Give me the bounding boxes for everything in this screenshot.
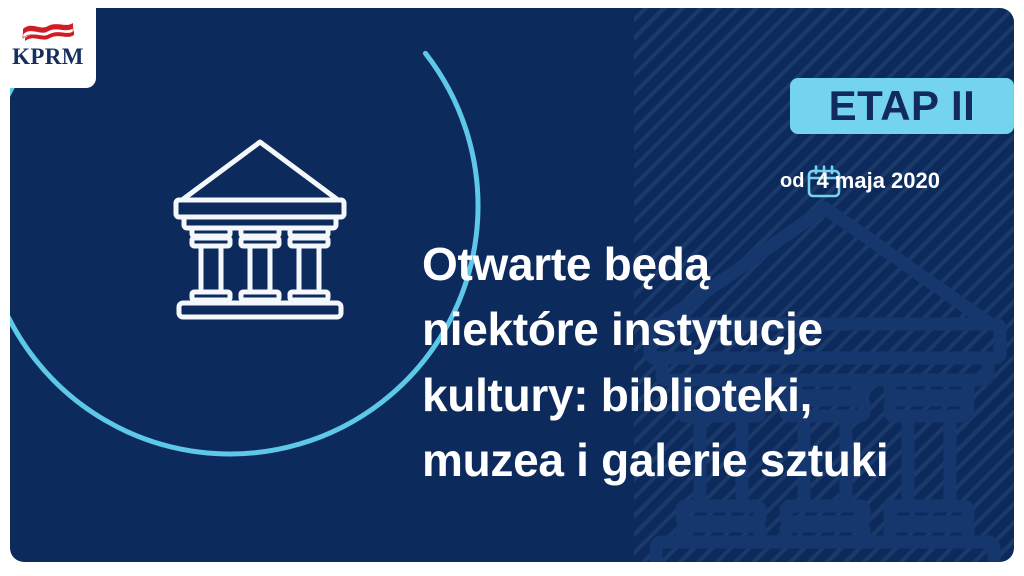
page-title: Otwarte będą niektóre instytucje kultury… bbox=[422, 232, 1014, 493]
classical-building-icon bbox=[160, 130, 360, 326]
date-row: od 4 maja 2020 bbox=[780, 166, 940, 196]
headline-line-1: Otwarte będą bbox=[422, 232, 1014, 297]
stage-badge-label: ETAP II bbox=[829, 85, 976, 127]
headline-line-3: kultury: biblioteki, bbox=[422, 363, 1014, 428]
poster-canvas: Otwarte będą niektóre instytucje kultury… bbox=[0, 0, 1024, 576]
kprm-logo-text: KPRM bbox=[12, 44, 84, 70]
headline-line-2: niektóre instytucje bbox=[422, 297, 1014, 362]
stage-badge: ETAP II bbox=[790, 78, 1014, 134]
date-prefix: od bbox=[780, 170, 804, 193]
polish-flag-emblem-icon bbox=[20, 19, 76, 43]
date-value: 4 maja 2020 bbox=[816, 168, 940, 194]
headline-line-4: muzea i galerie sztuki bbox=[422, 428, 1014, 493]
kprm-logo: KPRM bbox=[0, 0, 96, 88]
